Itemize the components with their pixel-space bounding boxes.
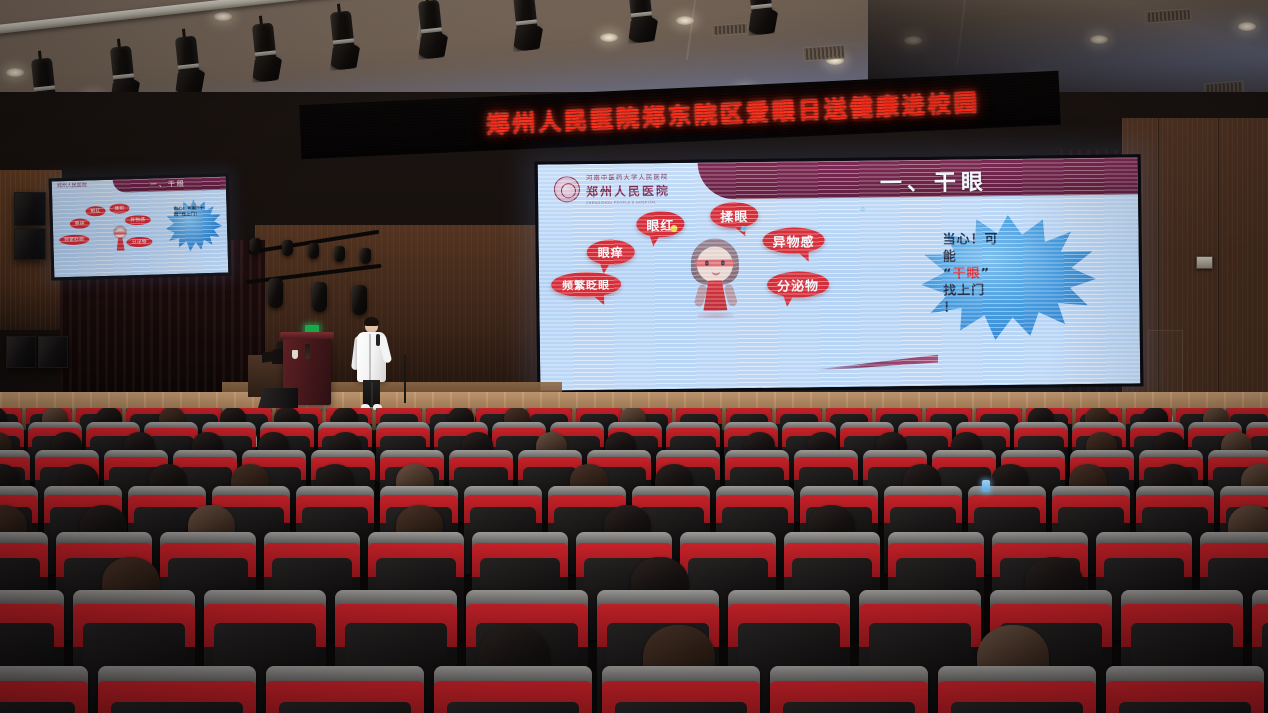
- seat-backrest: [783, 702, 916, 713]
- girl-red-eye-band: [695, 259, 735, 266]
- warning-line-2: 能: [943, 250, 957, 265]
- hospital-logo-line1: 河南中医药大学人民医院: [586, 171, 670, 182]
- presenter-hair: [364, 317, 379, 326]
- wall-speaker: [14, 192, 46, 226]
- hospital-logo-line3: ZHENGZHOU PEOPLE'S HOSPITAL: [586, 200, 670, 205]
- auditorium-seat[interactable]: [770, 666, 928, 713]
- auditorium-seat[interactable]: [1106, 666, 1264, 713]
- slide-swoosh-decoration: [808, 355, 938, 371]
- presenter-coat-seam: [369, 334, 371, 380]
- wall-speaker: [6, 336, 36, 368]
- warning-line-1: 当心！可: [943, 232, 999, 248]
- truss-spotlight: [360, 248, 371, 264]
- seat-backrest: [1119, 702, 1252, 713]
- auditorium-seat[interactable]: [434, 666, 592, 713]
- hospital-logo: 河南中医药大学人民医院 郑州人民医院 ZHENGZHOU PEOPLE'S HO…: [554, 171, 670, 205]
- water-bottle: [305, 344, 310, 359]
- slide-title: 一、干眼: [880, 164, 988, 197]
- warning-quote-close: ”: [980, 266, 990, 281]
- seat-backrest: [0, 702, 75, 713]
- ceiling-air-vent: [803, 45, 846, 62]
- presentation-slide: 一、干眼 河南中医药大学人民医院 郑州人民医院 ZHENGZHOU PEOPLE…: [538, 157, 1141, 390]
- ceiling-downlight: [676, 16, 694, 25]
- auditorium-seat[interactable]: [266, 666, 424, 713]
- warning-highlight: 干眼: [952, 266, 980, 281]
- auditorium-seat[interactable]: [0, 666, 88, 713]
- main-led-screen[interactable]: 一、干眼 河南中医药大学人民医院 郑州人民医院 ZHENGZHOU PEOPLE…: [535, 154, 1144, 393]
- hospital-emblem-icon: [554, 176, 580, 202]
- handheld-microphone: [376, 334, 380, 346]
- ceiling-downlight: [214, 12, 232, 21]
- side-monitor-slide: 一、干眼 郑州人民医院 眼红揉眼眼痒异物感频繁眨眼分泌物 当心！可能“干眼”找上…: [52, 177, 229, 278]
- slide-decor-dot: [860, 207, 865, 212]
- wall-speaker: [38, 336, 68, 368]
- seat-backrest: [951, 702, 1084, 713]
- symptom-bubble: 分泌物: [767, 271, 829, 298]
- seat-backrest: [111, 702, 244, 713]
- seat-backrest: [279, 702, 412, 713]
- microphone-stand: [404, 355, 406, 403]
- hospital-logo-line2: 郑州人民医院: [586, 182, 670, 200]
- warning-line-4: 找上门: [943, 283, 985, 299]
- paper-cup: [292, 350, 298, 359]
- symptom-bubble: 眼痒: [587, 239, 635, 265]
- truss-spotlight: [334, 246, 345, 262]
- truss-spotlight: [312, 282, 327, 312]
- seat-backrest: [447, 702, 580, 713]
- audience-seating: [0, 408, 1268, 713]
- audience-phone-screen: [982, 480, 990, 492]
- seat-backrest: [615, 702, 748, 713]
- slide-decor-dot: [740, 226, 746, 232]
- ceiling-air-vent: [712, 23, 749, 36]
- presenter-leg-gap: [371, 382, 373, 406]
- side-monitor[interactable]: 一、干眼 郑州人民医院 眼红揉眼眼痒异物感频繁眨眼分泌物 当心！可能“干眼”找上…: [49, 174, 232, 281]
- symptom-bubble: 频繁眨眼: [551, 272, 621, 298]
- girl-red-dress: [703, 280, 727, 310]
- girl-eye-left: [705, 261, 709, 266]
- auditorium-seat[interactable]: [98, 666, 256, 713]
- presenter-doctor: [352, 318, 390, 410]
- ceiling-downlight: [600, 33, 618, 42]
- auditorium-scene: 郑州人民医院郑东院区爱眼日送健康进校园 一、干眼 河南中医药大学人民医院 郑州人…: [0, 0, 1268, 713]
- slide-decor-dot: [670, 225, 677, 232]
- truss-spotlight: [250, 238, 261, 254]
- podium-top: [280, 332, 334, 339]
- wood-panel-right: [1122, 118, 1268, 418]
- side-monitor-scanlines: [52, 177, 229, 278]
- wall-sign: [1196, 256, 1213, 269]
- girl-shadow: [697, 312, 733, 318]
- stage-floor-monitor-speaker: [258, 388, 298, 408]
- symptom-bubble: 眼红: [636, 211, 684, 238]
- truss-spotlight: [282, 240, 293, 256]
- girl-eye-right: [721, 260, 725, 265]
- ceiling-downlight: [6, 68, 24, 77]
- wall-speaker: [14, 228, 46, 260]
- cartoon-girl-illustration: [687, 238, 744, 321]
- truss-spotlight: [308, 243, 319, 259]
- warning-quote-open: “: [943, 267, 953, 282]
- auditorium-seat[interactable]: [938, 666, 1096, 713]
- truss-spotlight: [268, 278, 283, 308]
- symptom-bubble: 异物感: [762, 227, 824, 254]
- warning-starburst-text: 当心！可 能 “干眼” 找上门 ！: [942, 230, 1053, 316]
- warning-line-5: ！: [943, 301, 957, 316]
- auditorium-seat[interactable]: [602, 666, 760, 713]
- truss-spotlight: [352, 285, 367, 315]
- symptom-bubble: 揉眼: [710, 202, 758, 229]
